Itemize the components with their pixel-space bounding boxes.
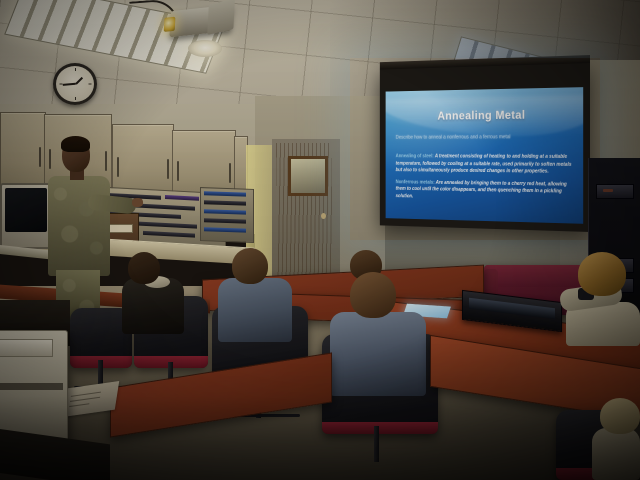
slide-body: Annealing of steel: A treatment consisti…: [396, 153, 574, 208]
sorter-slot: [204, 209, 246, 214]
student-grey-hoodie-left-center: [218, 248, 292, 340]
presentation-slide: Annealing Metal Describe how to anneal a…: [386, 87, 584, 224]
instructor-torso-camouflage: [48, 176, 110, 276]
printer-output-slot: [0, 383, 63, 390]
student-head: [128, 252, 160, 284]
classroom-photo-scene: Annealing Metal Describe how to anneal a…: [0, 0, 640, 480]
clock-hour-hand: [75, 77, 83, 85]
slide-bullet: Nonferrous metals: Are annealed by bring…: [396, 179, 574, 204]
student-head: [350, 272, 396, 318]
sorter-slot: [165, 195, 199, 201]
slide-subtitle: Describe how to anneal a nonferrous and …: [396, 134, 574, 140]
student-head-on-arms-right: [560, 252, 640, 342]
clock-mark: [75, 68, 76, 71]
rack-indicator-icon: [603, 189, 613, 192]
student-head: [600, 398, 640, 434]
wall-clock: [53, 63, 97, 105]
sorter-slot: [204, 227, 246, 232]
recessed-downlight-icon: [188, 40, 222, 57]
slide-bullet-term: Annealing of steel:: [396, 153, 434, 159]
student-torso: [330, 312, 426, 396]
projector-lens-icon: [164, 17, 176, 32]
student-torso: [218, 278, 292, 342]
projection-screen: Annealing Metal Describe how to anneal a…: [380, 62, 590, 232]
av-control-display: [469, 298, 555, 320]
student-blue-hoodie-center: [330, 272, 426, 392]
instructor-hair: [61, 136, 90, 152]
sorter-slot: [204, 218, 246, 223]
student-head: [232, 248, 268, 284]
student-head: [578, 252, 626, 296]
student-torso: [592, 428, 640, 480]
clock-mark: [89, 84, 92, 85]
instructor-hand: [132, 198, 143, 207]
clock-minute-hand: [63, 83, 76, 86]
slide-bullet-term: Nonferrous metals:: [396, 179, 435, 185]
student-dark-jacket-left: [122, 252, 188, 332]
chair-post: [374, 426, 379, 462]
sorter-slot: [143, 231, 195, 238]
slide-bullet: Annealing of steel: A treatment consisti…: [396, 153, 574, 176]
printer-paper-tray[interactable]: [0, 339, 53, 357]
chair-trim: [322, 422, 438, 434]
instructor: [48, 138, 128, 318]
student-foreground-right: [592, 398, 640, 480]
door-window-glass: [288, 156, 328, 196]
crt-screen: [5, 188, 47, 232]
sorter-slot: [204, 191, 246, 196]
crt-monitor: [0, 183, 54, 249]
slide-title: Annealing Metal: [386, 107, 584, 123]
door-knob-icon[interactable]: [321, 213, 326, 219]
sorter-slot: [204, 200, 246, 205]
mail-sorter-shelving: [200, 187, 254, 243]
rack-panel: [596, 184, 634, 199]
clock-mark: [75, 97, 76, 100]
